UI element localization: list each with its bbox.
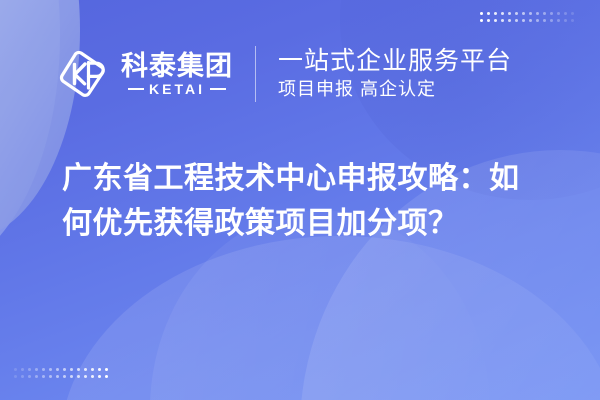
decorative-dot <box>105 368 108 371</box>
decorative-dot <box>105 375 108 378</box>
decorative-dot <box>91 368 94 371</box>
brand-rule-right <box>210 88 226 90</box>
decorative-dot <box>571 19 574 22</box>
decorative-dot <box>480 19 483 22</box>
decorative-dot <box>550 12 553 15</box>
decorative-dot <box>56 368 59 371</box>
slogan-block: 一站式企业服务平台 项目申报 高企认定 <box>278 47 512 102</box>
decorative-dot <box>550 19 553 22</box>
decorative-dot <box>42 375 45 378</box>
decorative-dot <box>21 375 24 378</box>
decorative-dot <box>21 368 24 371</box>
decorative-dot <box>564 12 567 15</box>
decorative-dot <box>56 375 59 378</box>
brand-name-en: KETAI <box>149 82 205 96</box>
decorative-dot <box>28 368 31 371</box>
decorative-dot <box>557 12 560 15</box>
brand-wordmark: 科泰集团 KETAI <box>121 52 233 96</box>
decorative-dot <box>35 368 38 371</box>
decorative-dot <box>543 12 546 15</box>
decorative-dot <box>28 375 31 378</box>
decorative-dot <box>508 19 511 22</box>
decorative-dot <box>487 19 490 22</box>
decorative-dot <box>84 368 87 371</box>
brand-rule-left <box>128 88 144 90</box>
promo-banner: 科泰集团 KETAI 一站式企业服务平台 项目申报 高企认定 广东省工程技术中心… <box>0 0 600 400</box>
decorative-dot <box>494 19 497 22</box>
header-divider <box>255 46 256 102</box>
decorative-dot <box>487 12 490 15</box>
decorative-dot <box>49 375 52 378</box>
decorative-dot <box>14 375 17 378</box>
decorative-dot <box>35 375 38 378</box>
decorative-dot <box>63 368 66 371</box>
dot-pattern-top-right <box>480 12 574 22</box>
ketai-diamond-monogram-logo-icon <box>57 48 109 100</box>
dot-pattern-bottom-left <box>14 368 108 378</box>
decorative-dot <box>49 368 52 371</box>
decorative-dot <box>529 12 532 15</box>
decorative-dot <box>522 12 525 15</box>
decorative-dot <box>14 368 17 371</box>
slogan-secondary: 项目申报 高企认定 <box>278 78 512 101</box>
banner-header: 科泰集团 KETAI 一站式企业服务平台 项目申报 高企认定 <box>0 34 600 114</box>
decorative-dot <box>536 19 539 22</box>
page-title: 广东省工程技术中心申报攻略：如何优先获得政策项目加分项？ <box>62 156 548 246</box>
decorative-dot <box>91 375 94 378</box>
decorative-dot <box>501 12 504 15</box>
decorative-dot <box>98 375 101 378</box>
decorative-dot <box>480 12 483 15</box>
decorative-dot <box>522 19 525 22</box>
decorative-dot <box>564 19 567 22</box>
decorative-dot <box>543 19 546 22</box>
decorative-dot <box>42 368 45 371</box>
brand-logo[interactable]: 科泰集团 KETAI <box>57 48 233 100</box>
brand-name-en-row: KETAI <box>128 82 226 96</box>
decorative-dot <box>84 375 87 378</box>
decorative-dot <box>70 375 73 378</box>
decorative-dot <box>77 368 80 371</box>
decorative-dot <box>98 368 101 371</box>
decorative-dot <box>63 375 66 378</box>
decorative-dot <box>529 19 532 22</box>
decorative-dot <box>536 12 539 15</box>
slogan-primary: 一站式企业服务平台 <box>278 47 512 77</box>
decorative-dot <box>515 12 518 15</box>
decorative-dot <box>571 12 574 15</box>
decorative-dot <box>557 19 560 22</box>
decorative-dot <box>515 19 518 22</box>
decorative-dot <box>77 375 80 378</box>
decorative-dot <box>70 368 73 371</box>
decorative-dot <box>508 12 511 15</box>
decorative-dot <box>501 19 504 22</box>
brand-name-cn: 科泰集团 <box>121 52 233 80</box>
decorative-dot <box>494 12 497 15</box>
background-ellipse-lower <box>60 236 600 400</box>
